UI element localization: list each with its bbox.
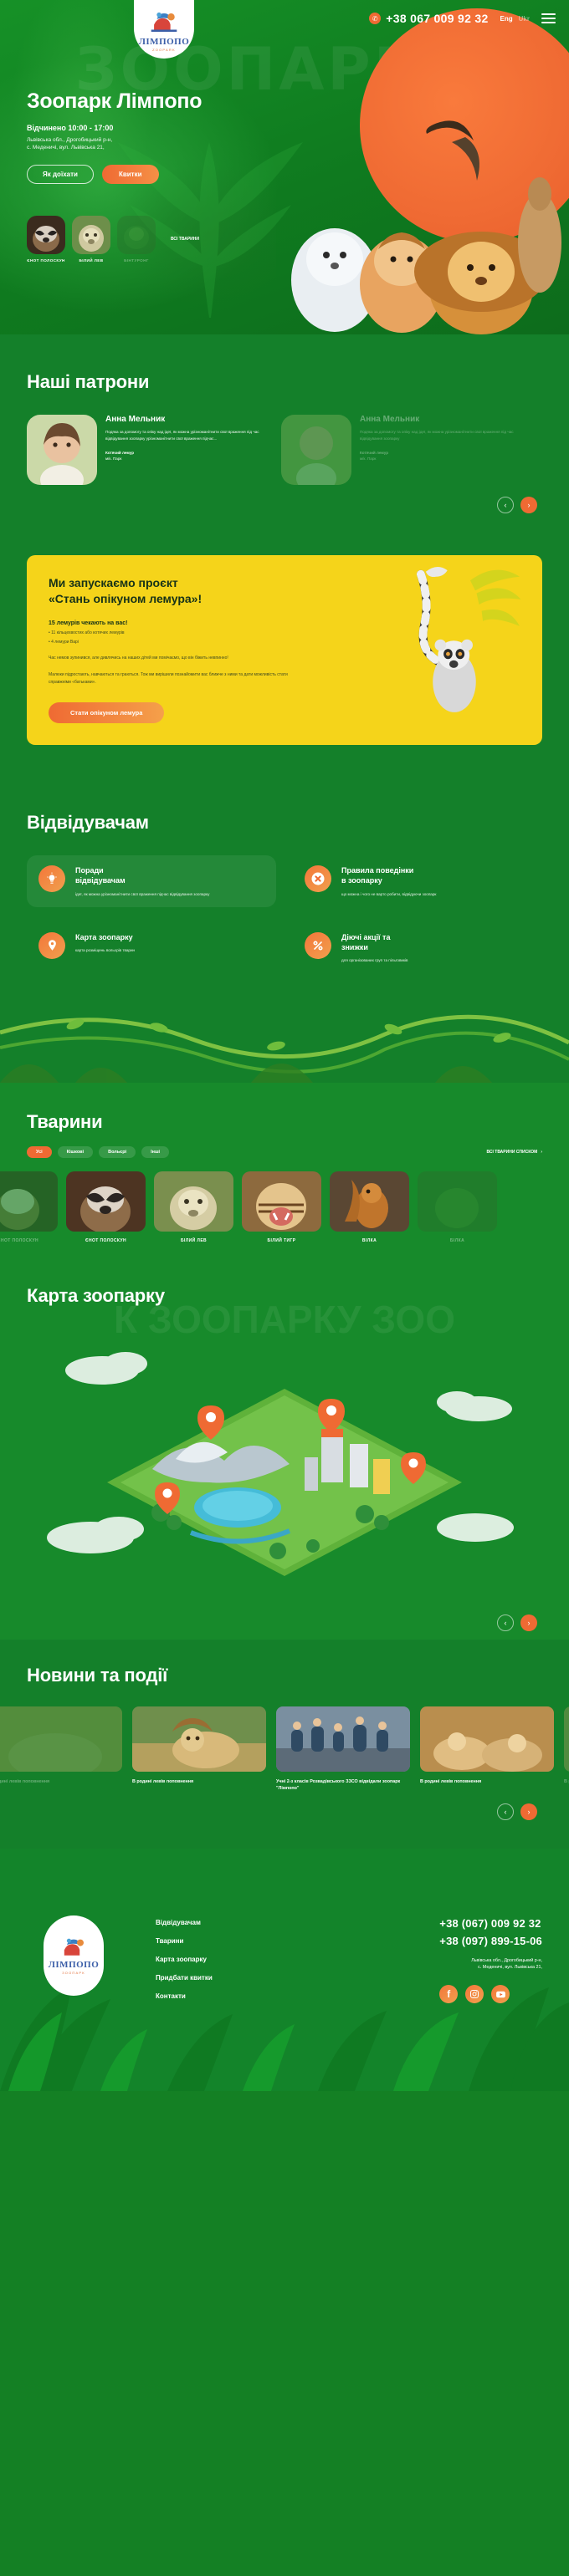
vines-divider [0,991,569,1083]
instagram-icon[interactable] [465,1985,484,2003]
header-phone-number: +38 067 009 92 32 [386,12,488,25]
patrons-carousel-controls: ‹ › [27,497,542,513]
visitor-card-discounts[interactable]: Діючі акції та знижки для організованих … [293,922,542,974]
news-card[interactable]: В родині левів поповнення [132,1706,266,1792]
patrons-carousel: Анна Мельник Подяка за допомогу та опіку… [27,415,542,485]
thumb-label: БІНТУРОНГ [117,258,156,263]
patron-info: Анна Мельник Подяка за допомогу та опіку… [105,415,269,485]
burger-menu-icon[interactable] [541,13,556,23]
lang-option-eng[interactable]: Eng [500,15,513,23]
close-circle-icon [305,865,331,892]
thumb-image [117,216,156,254]
map-carousel-controls: ‹ › [27,1614,542,1631]
thumb-label: БІЛИЙ ЛЕВ [72,258,110,263]
visitor-card-desc: карта розміщень вольєрів тварин [75,947,135,953]
news-card[interactable]: В родині левів поповнення [420,1706,554,1792]
news-card-title: В родині левів поповнення [420,1778,554,1785]
logo-subtitle: ZOOPARK [152,48,176,52]
news-section: Новини та події В родині левів поповненн… [0,1640,569,1849]
animal-image [330,1171,409,1232]
footer-link-tickets[interactable]: Придбати квитки [156,1974,213,1982]
news-title: Новини та події [27,1665,542,1686]
footer-link-animals[interactable]: Тварини [156,1937,213,1945]
footer-contacts: +38 (067) 009 92 32 +38 (097) 899-15-06 … [439,1917,542,2003]
animal-label: ВІЛКА [330,1238,409,1243]
isometric-zoo-map [27,1319,542,1603]
map-pin-icon [38,932,65,959]
header-phone[interactable]: ✆ +38 067 009 92 32 [369,12,488,25]
percent-icon [305,932,331,959]
visitor-card-title: Поради відвідувачам [75,865,209,885]
visitors-section: Відвідувачам Поради відвідувачам ідеї, я… [0,778,569,990]
animals-title: Тварини [27,1111,542,1133]
hero-thumb-white-lion[interactable]: БІЛИЙ ЛЕВ [72,216,110,263]
hero-address: Львівська обл., Дрогобицький р-н, с. Мед… [27,136,253,152]
news-carousel: В родині левів поповнення В родині левів… [0,1706,542,1792]
chevron-right-icon[interactable]: › [520,497,537,513]
animal-card[interactable]: ВІЛКА [330,1171,409,1243]
visitor-card-title: Карта зоопарку [75,932,135,942]
visitors-title: Відвідувачам [27,812,542,834]
footer-phone-secondary[interactable]: +38 (097) 899-15-06 [439,1935,542,1947]
animal-image [66,1171,146,1232]
logo-animals-icon [60,1936,87,1960]
footer-link-contacts[interactable]: Контакти [156,1992,213,2000]
chevron-left-icon[interactable]: ‹ [497,497,514,513]
zoo-map-illustration[interactable] [27,1319,542,1603]
patron-tag-value: м/к. Парк [105,457,121,461]
patron-description: Подяка за допомогу та опіку над ідеї, як… [105,429,269,442]
visitor-card-desc: що можна і чого не варто робити, відвіду… [341,891,436,897]
animal-card[interactable]: ЄНОТ ПОЛОСКУН [0,1171,58,1243]
visitor-card-title: Правила поведінки в зоопарку [341,865,436,885]
site-footer: ЛІМПОПО ЗООПАРК Відвідувачам Тварини Кар… [0,1849,569,2091]
patron-info: Анна Мельник Подяка за допомогу та опіку… [360,415,524,485]
chevron-right-icon[interactable]: › [520,1803,537,1820]
footer-address: Львівська обл., Дрогобицький р-н, с. Мед… [439,1957,542,1972]
chevron-left-icon[interactable]: ‹ [497,1803,514,1820]
animals-carousel: ЄНОТ ПОЛОСКУН ЄНОТ ПОЛОСКУН БІЛИЙ ЛЕВ БІ… [0,1171,542,1243]
filter-chip-aviary[interactable]: Вольєрі [99,1146,136,1158]
lemur-illustration [367,555,542,745]
lemur-heading: Ми запускаємо проєкт «Стань опікуном лем… [49,575,300,607]
news-image [0,1706,122,1772]
patron-description: Подяка за допомогу та опіку над ідеї, як… [360,429,524,442]
footer-link-visitors[interactable]: Відвідувачам [156,1919,213,1926]
news-image [276,1706,410,1772]
patrons-section: Наші патрони Анна Мельник Подяка за допо… [0,334,569,538]
social-links: f [439,1985,542,2003]
patron-tag: Котячий лемур м/к. Парк [105,450,269,462]
header-toolbar: ✆ +38 067 009 92 32 Eng Ukr [369,12,556,25]
thumb-image [27,216,65,254]
map-section: Карта зоопарку К ЗООПАРКУ ЗОО [0,1260,569,1640]
hero-buttons: Як доїхати Квитки [27,165,253,184]
animal-label: ЄНОТ ПОЛОСКУН [66,1238,146,1243]
page-title: Зоопарк Лімпопо [27,90,253,114]
patrons-title: Наші патрони [27,371,542,393]
patron-tag-value: м/к. Парк [360,457,376,461]
news-card-title: В родині левів поповнення [132,1778,266,1785]
animal-label: БІЛИЙ ЛЕВ [154,1238,233,1243]
visitor-card-body: Поради відвідувачам ідеї, як можна урізн… [75,865,209,897]
logo-animals-icon [150,10,178,35]
thumb-label: ЄНОТ ПОЛОСКУН [27,258,65,263]
news-card-title: В родині левів поповнення [0,1778,122,1785]
patron-card[interactable]: Анна Мельник Подяка за допомогу та опіку… [281,415,524,485]
thumb-image [72,216,110,254]
visitor-card-title: Діючі акції та знижки [341,932,408,952]
all-animals-link[interactable]: ВСІ ТВАРИНИ [171,237,204,242]
news-card[interactable]: В родині левів поповнення [564,1706,569,1792]
animal-card[interactable]: БІЛИЙ ЛЕВ [154,1171,233,1243]
animal-label: БІЛКА [418,1238,497,1243]
animal-card[interactable]: БІЛКА [418,1171,497,1243]
animal-filters: Усі Кішкові Вольєрі Інші ВСІ ТВАРИНИ СПИ… [27,1146,542,1158]
tickets-button[interactable]: Квитки [102,165,159,184]
visitor-card-body: Карта зоопарку карта розміщень вольєрів … [75,932,135,964]
footer-logo-subtitle: ЗООПАРК [62,1971,85,1975]
animal-image [154,1171,233,1232]
visitor-card-tips[interactable]: Поради відвідувачам ідеї, як можна урізн… [27,855,276,907]
logo-wordmark: ЛІМПОПО [139,37,190,47]
patron-card[interactable]: Анна Мельник Подяка за допомогу та опіку… [27,415,269,485]
chevron-left-icon[interactable]: ‹ [497,1614,514,1631]
animal-card[interactable]: ЄНОТ ПОЛОСКУН [66,1171,146,1243]
hero-thumb-raccoon[interactable]: ЄНОТ ПОЛОСКУН [27,216,65,263]
patron-name: Анна Мельник [105,415,269,424]
lemur-paragraph: Час немов зупинився, але дивлячись на на… [49,655,300,662]
all-animals-list-label: ВСІ ТВАРИНИ СПИСКОМ [486,1150,537,1155]
filter-chip-all[interactable]: Усі [27,1146,52,1158]
lemur-promo-section: Ми запускаємо проєкт «Стань опікуном лем… [0,538,569,778]
lemur-paragraph: Малюки підростають, навчаються та грають… [49,671,300,686]
hero-thumb-binturong[interactable]: БІНТУРОНГ [117,216,156,263]
visitor-card-map[interactable]: Карта зоопарку карта розміщень вольєрів … [27,922,276,974]
youtube-icon[interactable] [491,1985,510,2003]
footer-nav: Відвідувачам Тварини Карта зоопарку Прид… [156,1919,213,2000]
phone-icon: ✆ [369,13,381,24]
visitor-card-body: Діючі акції та знижки для організованих … [341,932,408,964]
footer-logo[interactable]: ЛІМПОПО ЗООПАРК [44,1915,104,1996]
visitor-card-body: Правила поведінки в зоопарку що можна і … [341,865,436,897]
all-animals-list-link[interactable]: ВСІ ТВАРИНИ СПИСКОМ › [486,1150,542,1155]
animal-image [0,1171,58,1232]
facebook-icon[interactable]: f [439,1985,458,2003]
language-switcher[interactable]: Eng Ukr [500,15,530,23]
news-card[interactable]: В родині левів поповнення [0,1706,122,1792]
become-lemur-guardian-button[interactable]: Стати опікуном лемура [49,702,164,723]
patron-tag-label: Котячий лемур [105,450,269,456]
animal-image [418,1171,497,1232]
visitor-card-rules[interactable]: Правила поведінки в зоопарку що можна і … [293,855,542,907]
avatar [27,415,97,485]
animal-label: ЄНОТ ПОЛОСКУН [0,1238,58,1243]
visitors-grid: Поради відвідувачам ідеї, як можна урізн… [27,855,542,973]
opening-hours: Відчинено 10:00 - 17:00 [27,124,253,132]
filter-chip-cats[interactable]: Кішкові [58,1146,93,1158]
vine-decoration [0,991,569,1083]
footer-link-map[interactable]: Карта зоопарку [156,1956,213,1963]
footer-phone-primary[interactable]: +38 (067) 009 92 32 [439,1917,542,1930]
footer-content: ЛІМПОПО ЗООПАРК Відвідувачам Тварини Кар… [27,1907,542,2003]
animal-card[interactable]: БІЛИЙ ТИГР [242,1171,321,1243]
chevron-right-icon[interactable]: › [520,1614,537,1631]
hero-animal-collage [284,117,569,334]
chevron-right-icon: › [541,1150,542,1155]
zoo-landing-page: ЗООПАРК З ✆ +38 067 009 92 [0,0,569,2091]
visitor-card-desc: ідеї, як можна урізноманітнити свої враж… [75,891,209,897]
patron-name: Анна Мельник [360,415,524,424]
lang-option-ukr[interactable]: Ukr [519,15,530,23]
patron-tag: Котячий лемур м/к. Парк [360,450,524,462]
patron-tag-label: Котячий лемур [360,450,524,456]
animal-label: БІЛИЙ ТИГР [242,1238,321,1243]
animals-section: Тварини Усі Кішкові Вольєрі Інші ВСІ ТВА… [0,1083,569,1260]
site-logo[interactable]: ЛІМПОПО ZOOPARK [134,0,194,59]
news-card-title: Учні 2-з класів Розвадівського ЗЗСО відв… [276,1778,410,1792]
hero-content: Зоопарк Лімпопо Відчинено 10:00 - 17:00 … [27,90,253,184]
news-image [420,1706,554,1772]
hero-section: ЗООПАРК З ✆ +38 067 009 92 [0,0,569,334]
avatar [281,415,351,485]
filter-chip-other[interactable]: Інші [141,1146,169,1158]
news-carousel-controls: ‹ › [27,1803,542,1820]
lemur-promo-card: Ми запускаємо проєкт «Стань опікуном лем… [27,555,542,745]
directions-button[interactable]: Як доїхати [27,165,94,184]
news-card[interactable]: Учні 2-з класів Розвадівського ЗЗСО відв… [276,1706,410,1792]
animal-image [242,1171,321,1232]
hero-animal-thumbnails: ЄНОТ ПОЛОСКУН БІЛИЙ ЛЕВ БІНТУРОНГ ВСІ ТВ… [27,216,204,263]
news-card-title: В родині левів поповнення [564,1778,569,1785]
lightbulb-icon [38,865,65,892]
news-image [564,1706,569,1772]
news-image [132,1706,266,1772]
visitor-card-desc: для організованих груп та пільговиків [341,957,408,963]
footer-logo-wordmark: ЛІМПОПО [49,1960,100,1970]
